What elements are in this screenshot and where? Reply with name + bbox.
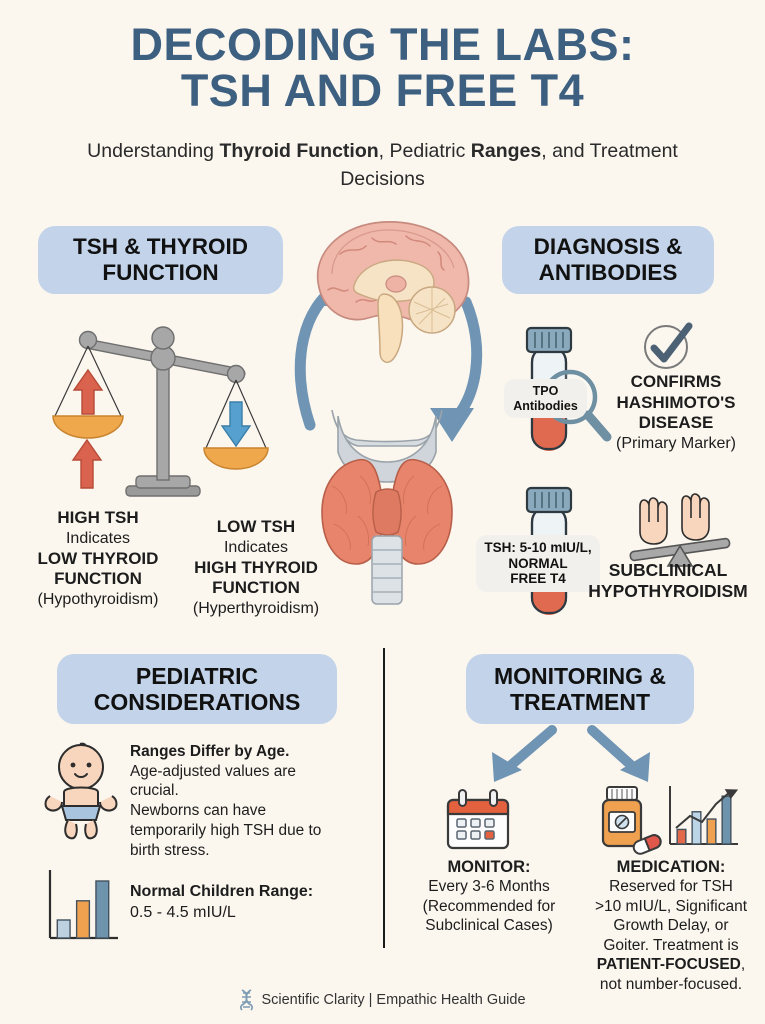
pediatric-bold-lead: Ranges Differ by Age. bbox=[130, 742, 342, 762]
baby-diaper bbox=[62, 806, 100, 820]
footer: Scientific Clarity | Empathic Health Gui… bbox=[0, 989, 765, 1011]
page-title-line2: TSH AND FREE T4 bbox=[0, 68, 765, 114]
high-tsh-result-line1: LOW THYROID bbox=[14, 549, 182, 570]
calendar-ring-right bbox=[490, 790, 497, 806]
baby-arm-left bbox=[46, 796, 63, 811]
balance-scale-illustration bbox=[58, 318, 288, 508]
subtitle-bold-thyroid-function: Thyroid Function bbox=[219, 140, 378, 162]
section-header-pediatric-label: PEDIATRIC CONSIDERATIONS bbox=[71, 663, 323, 715]
bar-1 bbox=[57, 920, 70, 938]
scale-pan-left bbox=[53, 416, 123, 438]
scale-pan-right bbox=[204, 448, 268, 469]
tpo-antibodies-label-chip: TPO Antibodies bbox=[504, 379, 587, 418]
monitor-head: MONITOR: bbox=[400, 857, 578, 877]
hands-seesaw-icon bbox=[620, 492, 740, 567]
arrow-down-blue-pan bbox=[222, 402, 250, 446]
baby-leg-right bbox=[85, 820, 97, 838]
tpo-chip-line1: TPO bbox=[512, 384, 579, 399]
tpo-chip-line2: Antibodies bbox=[512, 399, 579, 414]
check-circle-icon bbox=[640, 320, 700, 375]
section-header-diagnosis-label: DIAGNOSIS & ANTIBODIES bbox=[516, 234, 700, 285]
high-tsh-headline: HIGH TSH bbox=[14, 508, 182, 529]
bar-3 bbox=[96, 881, 109, 938]
subclinical-line2: HYPOTHYROIDISM bbox=[570, 581, 765, 602]
low-tsh-result-line2: FUNCTION bbox=[170, 578, 342, 599]
section-header-monitoring-treatment: MONITORING & TREATMENT bbox=[466, 654, 694, 724]
pediatric-body-line4: temporarily high TSH due to bbox=[130, 821, 342, 841]
pediatric-body-line2: crucial. bbox=[130, 781, 342, 801]
subtitle-part-2: , Pediatric bbox=[379, 140, 471, 162]
hand-left-icon bbox=[640, 498, 667, 544]
high-tsh-text-block: HIGH TSH Indicates LOW THYROID FUNCTION … bbox=[14, 508, 182, 610]
arrow-up-red-lower bbox=[73, 440, 101, 488]
bar-2 bbox=[692, 812, 701, 844]
section-header-pediatric-considerations: PEDIATRIC CONSIDERATIONS bbox=[57, 654, 337, 724]
baby-arm-right bbox=[100, 796, 117, 811]
infographic-page: DECODING THE LABS: TSH AND FREE T4 Under… bbox=[0, 0, 765, 1024]
subclinical-hypothyroidism-text-block: SUBCLINICAL HYPOTHYROIDISM bbox=[570, 560, 765, 603]
monitor-text-block: MONITOR: Every 3-6 Months (Recommended f… bbox=[400, 857, 578, 936]
monitoring-branch-arrows bbox=[460, 726, 700, 788]
pediatric-body-line1: Age-adjusted values are bbox=[130, 762, 342, 782]
children-range-text: Normal Children Range: 0.5 - 4.5 mIU/L bbox=[130, 881, 345, 924]
low-tsh-result-line1: HIGH THYROID bbox=[170, 558, 342, 579]
section-header-tsh-thyroid-function: TSH & THYROID FUNCTION bbox=[38, 226, 283, 294]
vertical-divider bbox=[383, 648, 385, 948]
pediatric-body-line5: birth stress. bbox=[130, 841, 342, 861]
baby-leg-left bbox=[65, 820, 77, 838]
dna-helix-icon bbox=[239, 989, 254, 1011]
page-title-line1: DECODING THE LABS: bbox=[131, 19, 635, 70]
calendar-icon bbox=[442, 786, 514, 852]
medication-text-block: MEDICATION: Reserved for TSH >10 mIU/L, … bbox=[580, 857, 762, 994]
confirms-line2: HASHIMOTO'S bbox=[592, 393, 760, 414]
hand-right-icon bbox=[682, 494, 709, 540]
confirms-line3: DISEASE bbox=[592, 413, 760, 434]
baby-icon bbox=[36, 740, 131, 840]
arrow-left-shaft bbox=[510, 730, 552, 766]
medication-line3: Growth Delay, or bbox=[580, 916, 762, 936]
page-title: DECODING THE LABS: TSH AND FREE T4 bbox=[0, 22, 765, 115]
monitor-line3: Subclinical Cases) bbox=[400, 916, 578, 936]
monitor-line1: Every 3-6 Months bbox=[400, 877, 578, 897]
subtitle-part-1: Understanding bbox=[87, 140, 219, 162]
medication-comma: , bbox=[741, 956, 745, 973]
chart1-bars bbox=[57, 881, 108, 938]
medication-line2: >10 mIU/L, Significant bbox=[580, 897, 762, 917]
medication-bottle-icon bbox=[595, 784, 663, 854]
section-header-tsh-label: TSH & THYROID FUNCTION bbox=[52, 234, 269, 285]
medication-bold-patient-focused: PATIENT-FOCUSED bbox=[597, 956, 741, 973]
children-range-value: 0.5 - 4.5 mIU/L bbox=[130, 902, 345, 923]
bar-2 bbox=[77, 901, 90, 938]
bar-4 bbox=[722, 796, 731, 844]
calendar-ring-left bbox=[459, 790, 466, 806]
arrow-right-shaft bbox=[592, 730, 632, 766]
confirms-note: (Primary Marker) bbox=[592, 434, 760, 454]
subtitle-bold-ranges: Ranges bbox=[471, 140, 541, 162]
calendar-header bbox=[448, 800, 508, 814]
arrow-up-red-pan bbox=[74, 370, 102, 414]
medication-line1: Reserved for TSH bbox=[580, 877, 762, 897]
low-tsh-headline: LOW TSH bbox=[170, 517, 342, 538]
children-range-bar-chart bbox=[42, 868, 124, 950]
children-range-label: Normal Children Range: bbox=[130, 881, 345, 902]
growth-trend-chart bbox=[664, 782, 742, 854]
subclinical-line1: SUBCLINICAL bbox=[570, 560, 765, 581]
high-tsh-note: (Hypothyroidism) bbox=[14, 590, 182, 610]
bar-3 bbox=[707, 819, 716, 844]
section-header-diagnosis-antibodies: DIAGNOSIS & ANTIBODIES bbox=[502, 226, 714, 294]
medication-line4: Goiter. Treatment is bbox=[580, 936, 762, 956]
low-tsh-connector: Indicates bbox=[170, 538, 342, 558]
confirms-hashimoto-text-block: CONFIRMS HASHIMOTO'S DISEASE (Primary Ma… bbox=[592, 372, 760, 454]
feedback-arrow-right bbox=[452, 302, 477, 422]
high-tsh-connector: Indicates bbox=[14, 529, 182, 549]
low-tsh-note: (Hyperthyroidism) bbox=[170, 599, 342, 619]
tsh-chip-line1: TSH: 5-10 mIU/L, bbox=[484, 540, 592, 556]
bar-1 bbox=[677, 829, 686, 844]
section-header-monitoring-label: MONITORING & TREATMENT bbox=[480, 663, 680, 715]
footer-text: Scientific Clarity | Empathic Health Gui… bbox=[261, 992, 525, 1008]
brain-illustration bbox=[318, 222, 469, 362]
monitor-line2: (Recommended for bbox=[400, 897, 578, 917]
pediatric-body-text: Ranges Differ by Age. Age-adjusted value… bbox=[130, 742, 342, 860]
baby-head bbox=[59, 745, 103, 789]
page-subtitle: Understanding Thyroid Function, Pediatri… bbox=[70, 138, 695, 193]
pediatric-body-line3: Newborns can have bbox=[130, 801, 342, 821]
confirms-line1: CONFIRMS bbox=[592, 372, 760, 393]
high-tsh-result-line2: FUNCTION bbox=[14, 569, 182, 590]
low-tsh-text-block: LOW TSH Indicates HIGH THYROID FUNCTION … bbox=[170, 517, 342, 619]
medication-head: MEDICATION: bbox=[580, 857, 762, 877]
trachea bbox=[372, 536, 402, 604]
